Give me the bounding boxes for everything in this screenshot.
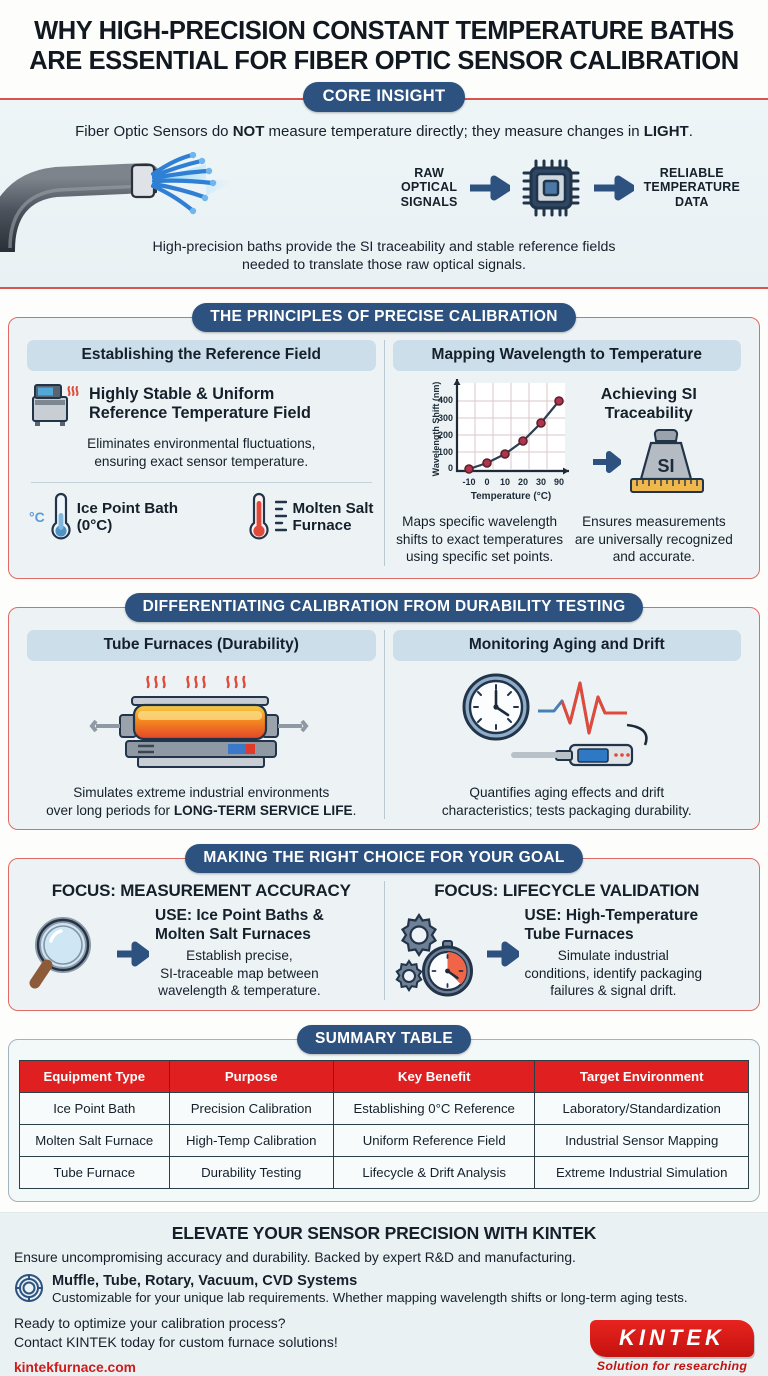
choice-badge: MAKING THE RIGHT CHOICE FOR YOUR GOAL — [185, 844, 582, 873]
table-header-row: Equipment TypePurposeKey BenefitTarget E… — [20, 1061, 749, 1093]
core-footer-line-2: needed to translate those raw optical si… — [50, 256, 718, 275]
footer-feature-head: Muffle, Tube, Rotary, Vacuum, CVD System… — [52, 1273, 688, 1289]
mapping-visual-row: 400 300 200 100 0 -10 0 10 20 30 90 Temp… — [393, 377, 742, 505]
flow-label-reliable: RELIABLETEMPERATUREDATA — [644, 166, 740, 209]
thermometer-cold-icon — [50, 491, 72, 543]
kintek-logo: KINTEK Solution for researching — [590, 1320, 754, 1373]
svg-text:20: 20 — [518, 477, 528, 487]
arrow-right-icon-3 — [591, 450, 621, 474]
table-cell-2: Establishing 0°C Reference — [333, 1093, 534, 1125]
accuracy-focus-title: FOCUS: MEASUREMENT ACCURACY — [27, 881, 376, 901]
table-row: Molten Salt FurnaceHigh-Temp Calibration… — [20, 1125, 749, 1157]
flow-label-raw: RAWOPTICALSIGNALS — [401, 166, 458, 209]
table-cell-1: Precision Calibration — [169, 1093, 333, 1125]
celsius-unit-label: °C — [29, 509, 45, 525]
principles-left-head: Highly Stable & Uniform Reference Temper… — [89, 385, 311, 423]
salt-label-1: Molten Salt — [292, 500, 373, 518]
lead-light: LIGHT — [644, 123, 689, 140]
core-insight-lead: Fiber Optic Sensors do NOT measure tempe… — [10, 122, 758, 142]
lead-end: . — [689, 123, 693, 140]
ice-point-label: Ice Point Bath (0°C) — [77, 500, 178, 535]
lifecycle-body: Simulate industrial conditions, identify… — [525, 947, 703, 1000]
lifecycle-focus-title: FOCUS: LIFECYCLE VALIDATION — [393, 881, 742, 901]
table-cell-1: Durability Testing — [169, 1157, 333, 1189]
ice-label-2: (0°C) — [77, 517, 178, 535]
table-cell-1: High-Temp Calibration — [169, 1125, 333, 1157]
table-cell-0: Tube Furnace — [20, 1157, 170, 1189]
table-cell-2: Uniform Reference Field — [333, 1125, 534, 1157]
summary-section: SUMMARY TABLE Equipment TypePurposeKey B… — [8, 1025, 760, 1202]
table-col-header-1: Purpose — [169, 1061, 333, 1093]
table-cell-3: Industrial Sensor Mapping — [535, 1125, 749, 1157]
infographic-page: WHY HIGH-PRECISION CONSTANT TEMPERATURE … — [0, 0, 768, 1376]
life-use-1: USE: High-Temperature — [525, 907, 703, 925]
principles-right-col: Mapping Wavelength to Temperature — [384, 340, 750, 566]
divider — [31, 482, 372, 483]
table-col-header-0: Equipment Type — [20, 1061, 170, 1093]
svg-text:90: 90 — [554, 477, 564, 487]
si-caption: Ensures measurements are universally rec… — [567, 513, 741, 566]
tube-furnace-subhead: Tube Furnaces (Durability) — [27, 630, 376, 661]
svg-text:10: 10 — [500, 477, 510, 487]
lifecycle-use-head: USE: High-Temperature Tube Furnaces — [525, 907, 703, 944]
life-body-1: Simulate industrial — [525, 947, 703, 965]
aging-drift-subhead: Monitoring Aging and Drift — [393, 630, 742, 661]
tube-furnace-body: Simulates extreme industrial environment… — [27, 784, 376, 819]
table-col-header-3: Target Environment — [535, 1061, 749, 1093]
acc-body-3: wavelength & temperature. — [155, 982, 324, 1000]
body-line-2: ensuring exact sensor temperature. — [27, 453, 376, 471]
chart-cap-3: using specific set points. — [393, 548, 567, 566]
differentiating-panel: Tube Furnaces (Durability) — [8, 607, 760, 830]
ice-point-item: °C Ice Point Bath (0°C) — [29, 491, 178, 543]
tf-body-2-bold: LONG-TERM SERVICE LIFE — [174, 803, 353, 818]
tf-body-2-pre: over long periods for — [46, 803, 174, 818]
choice-section: MAKING THE RIGHT CHOICE FOR YOUR GOAL FO… — [8, 844, 760, 1011]
body-line-1: Eliminates environmental fluctuations, — [27, 435, 376, 453]
footer-section: ELEVATE YOUR SENSOR PRECISION WITH KINTE… — [0, 1212, 768, 1376]
si-traceability-title: Achieving SI Traceability — [601, 385, 697, 423]
accuracy-col: FOCUS: MEASUREMENT ACCURACY — [19, 881, 384, 1000]
chart-cap-1: Maps specific wavelength — [393, 513, 567, 531]
acc-body-2: SI-traceable map between — [155, 965, 324, 983]
tube-furnace-icon — [86, 667, 316, 775]
chart-cap-2: shifts to exact temperatures — [393, 531, 567, 549]
accuracy-use-head: USE: Ice Point Baths & Molten Salt Furna… — [155, 907, 324, 944]
core-insight-badge-row: CORE INSIGHT — [0, 82, 768, 112]
principles-left-col: Establishing the Reference Field — [19, 340, 384, 566]
si-cap-1: Ensures measurements — [567, 513, 741, 531]
si-title-2: Traceability — [601, 404, 697, 423]
differentiating-section: DIFFERENTIATING CALIBRATION FROM DURABIL… — [8, 593, 760, 830]
principles-left-subhead: Establishing the Reference Field — [27, 340, 376, 371]
fiber-cable-icon — [0, 152, 326, 257]
svg-text:Wavelength Shift (nm): Wavelength Shift (nm) — [431, 382, 441, 477]
aging-drift-body: Quantifies aging effects and drift chara… — [393, 784, 742, 819]
life-body-3: failures & signal drift. — [525, 982, 703, 1000]
title-line-2: ARE ESSENTIAL FOR FIBER OPTIC SENSOR CAL… — [14, 46, 754, 76]
summary-table-panel: Equipment TypePurposeKey BenefitTarget E… — [8, 1039, 760, 1202]
furnace-ring-icon — [14, 1273, 44, 1303]
life-use-2: Tube Furnaces — [525, 926, 703, 944]
acc-use-2: Molten Salt Furnaces — [155, 926, 324, 944]
circulating-bath-icon — [27, 381, 81, 427]
table-cell-2: Lifecycle & Drift Analysis — [333, 1157, 534, 1189]
si-title-1: Achieving SI — [601, 385, 697, 404]
arrow-right-icon-4 — [115, 941, 149, 967]
life-body-2: conditions, identify packaging — [525, 965, 703, 983]
arrow-right-icon-1 — [468, 175, 510, 201]
chip-icon — [520, 157, 582, 219]
principles-section: THE PRINCIPLES OF PRECISE CALIBRATION Es… — [8, 303, 760, 579]
thermometer-hot-icon — [248, 491, 270, 543]
molten-salt-label: Molten Salt Furnace — [292, 500, 373, 535]
aging-drift-icon — [452, 667, 682, 775]
core-insight-section: Fiber Optic Sensors do NOT measure tempe… — [0, 98, 768, 289]
si-weight-label: SI — [657, 456, 674, 476]
salt-label-2: Furnace — [292, 517, 373, 535]
kintek-logo-text: KINTEK — [596, 1325, 748, 1351]
lead-mid: measure temperature directly; they measu… — [264, 123, 643, 140]
tf-body-2: over long periods for LONG-TERM SERVICE … — [27, 802, 376, 820]
choice-panel: FOCUS: MEASUREMENT ACCURACY — [8, 858, 760, 1011]
chart-caption: Maps specific wavelength shifts to exact… — [393, 513, 567, 566]
si-weight-icon: SI — [625, 427, 707, 497]
gears-stopwatch-icon — [393, 911, 479, 997]
footer-feature: Muffle, Tube, Rotary, Vacuum, CVD System… — [14, 1273, 754, 1305]
summary-table: Equipment TypePurposeKey BenefitTarget E… — [19, 1060, 749, 1189]
si-cap-2: are universally recognized — [567, 531, 741, 549]
si-cap-3: and accurate. — [567, 548, 741, 566]
principles-badge: THE PRINCIPLES OF PRECISE CALIBRATION — [192, 303, 576, 332]
acc-use-1: USE: Ice Point Baths & — [155, 907, 324, 925]
footer-feature-sub: Customizable for your unique lab require… — [52, 1290, 688, 1305]
principles-right-captions: Maps specific wavelength shifts to exact… — [393, 513, 742, 566]
principles-left-body: Eliminates environmental fluctuations, e… — [27, 435, 376, 470]
svg-text:Temperature (°C): Temperature (°C) — [471, 491, 552, 502]
ice-label-1: Ice Point Bath — [77, 500, 178, 518]
svg-text:-10: -10 — [462, 477, 475, 487]
scale-ticks-icon — [275, 498, 287, 536]
table-col-header-2: Key Benefit — [333, 1061, 534, 1093]
differentiating-badge: DIFFERENTIATING CALIBRATION FROM DURABIL… — [125, 593, 644, 622]
principles-right-subhead: Mapping Wavelength to Temperature — [393, 340, 742, 371]
wavelength-temperature-chart: 400 300 200 100 0 -10 0 10 20 30 90 Temp… — [427, 377, 587, 505]
ad-body-2: characteristics; tests packaging durabil… — [393, 802, 742, 820]
footer-title: ELEVATE YOUR SENSOR PRECISION WITH KINTE… — [14, 1223, 754, 1244]
kintek-logo-tagline: Solution for researching — [590, 1359, 754, 1373]
svg-text:0: 0 — [448, 463, 453, 473]
table-row: Tube FurnaceDurability TestingLifecycle … — [20, 1157, 749, 1189]
thermometer-row: °C Ice Point Bath (0°C) — [27, 491, 376, 543]
ad-body-1: Quantifies aging effects and drift — [393, 784, 742, 802]
table-row: Ice Point BathPrecision CalibrationEstab… — [20, 1093, 749, 1125]
svg-text:0: 0 — [484, 477, 489, 487]
svg-text:30: 30 — [536, 477, 546, 487]
summary-badge: SUMMARY TABLE — [297, 1025, 471, 1054]
table-cell-3: Extreme Industrial Simulation — [535, 1157, 749, 1189]
accuracy-body: Establish precise, SI-traceable map betw… — [155, 947, 324, 1000]
arrow-right-icon-5 — [485, 941, 519, 967]
tube-furnace-col: Tube Furnaces (Durability) — [19, 630, 384, 819]
tf-body-1: Simulates extreme industrial environment… — [27, 784, 376, 802]
footer-subtitle: Ensure uncompromising accuracy and durab… — [14, 1250, 754, 1265]
tf-body-2-end: . — [353, 803, 357, 818]
title-line-1: WHY HIGH-PRECISION CONSTANT TEMPERATURE … — [14, 16, 754, 46]
molten-salt-item: Molten Salt Furnace — [248, 491, 373, 543]
table-cell-0: Molten Salt Furnace — [20, 1125, 170, 1157]
page-title: WHY HIGH-PRECISION CONSTANT TEMPERATURE … — [0, 0, 768, 82]
table-cell-0: Ice Point Bath — [20, 1093, 170, 1125]
lead-not: NOT — [233, 123, 265, 140]
head-line-2: Reference Temperature Field — [89, 404, 311, 423]
core-insight-badge: CORE INSIGHT — [303, 82, 466, 112]
principles-panel: Establishing the Reference Field — [8, 317, 760, 579]
kintek-logo-box: KINTEK — [590, 1320, 754, 1357]
lead-pre: Fiber Optic Sensors do — [75, 123, 233, 140]
table-cell-3: Laboratory/Standardization — [535, 1093, 749, 1125]
aging-drift-col: Monitoring Aging and Drift — [384, 630, 750, 819]
acc-body-1: Establish precise, — [155, 947, 324, 965]
head-line-1: Highly Stable & Uniform — [89, 385, 311, 404]
magnifier-icon — [27, 913, 109, 995]
arrow-right-icon-2 — [592, 175, 634, 201]
lifecycle-col: FOCUS: LIFECYCLE VALIDATION — [384, 881, 750, 1000]
